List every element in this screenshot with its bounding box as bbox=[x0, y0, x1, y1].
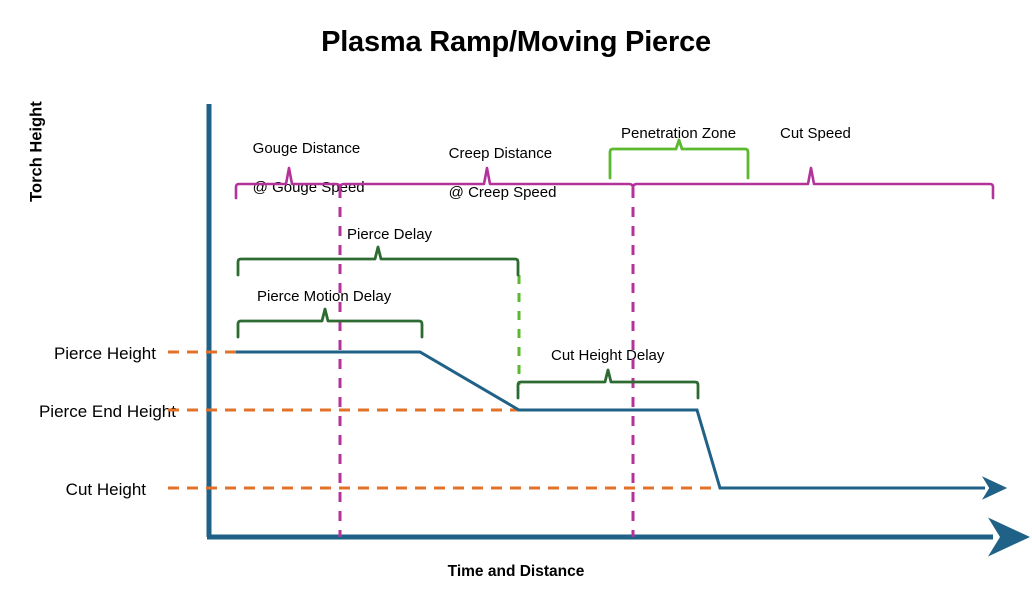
speed-bracket-group bbox=[236, 168, 993, 198]
bracket-cut-height-delay bbox=[518, 370, 698, 398]
bracket-penetration-zone bbox=[610, 140, 748, 178]
bracket-pierce-delay bbox=[238, 247, 518, 275]
axes bbox=[207, 104, 993, 537]
bracket-penetration-zone-path bbox=[610, 140, 748, 178]
speed-bracket-line bbox=[236, 168, 993, 198]
bracket-cut-height-delay-path bbox=[518, 370, 698, 398]
bracket-pierce-delay-path bbox=[238, 247, 518, 275]
reference-lines bbox=[168, 352, 720, 488]
bracket-pierce-motion-delay-path bbox=[238, 309, 422, 337]
torch-height-curve bbox=[236, 352, 985, 488]
diagram-canvas bbox=[0, 0, 1032, 596]
event-markers bbox=[340, 188, 633, 537]
plasma-ramp-diagram: Plasma Ramp/Moving Pierce Torch Height T… bbox=[0, 0, 1032, 596]
bracket-pierce-motion-delay bbox=[238, 309, 422, 337]
